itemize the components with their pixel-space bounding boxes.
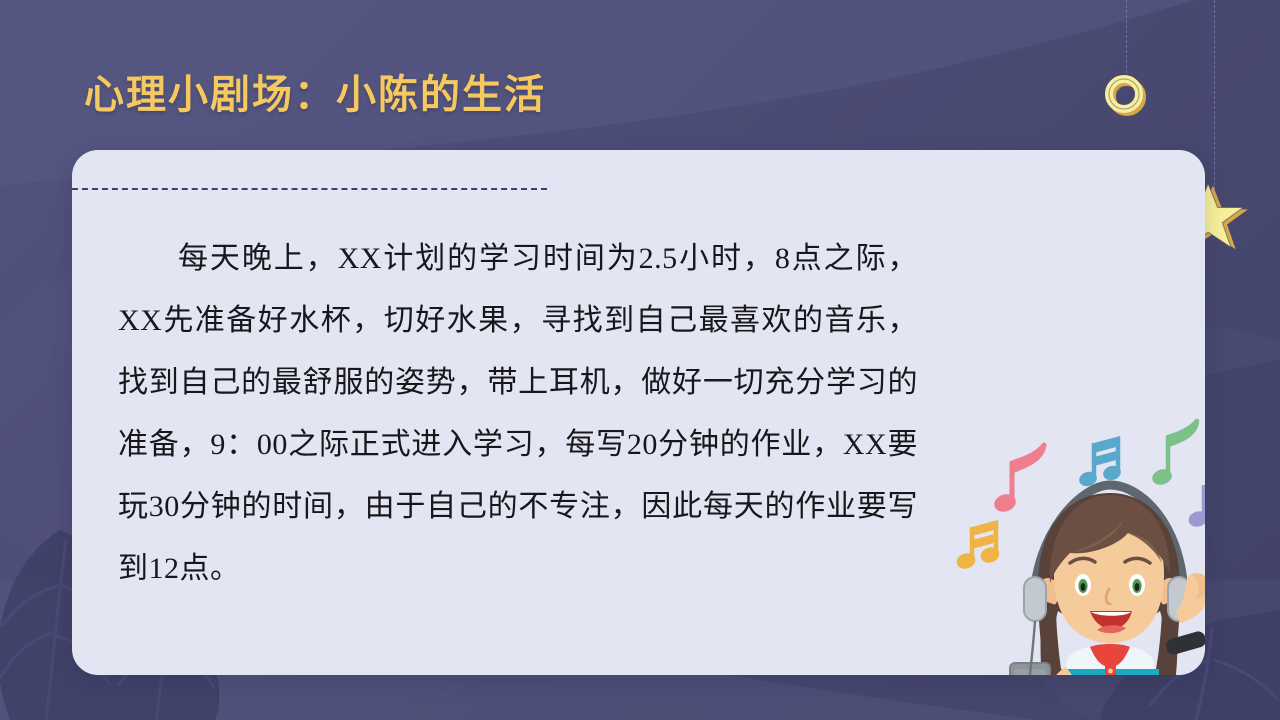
girl-listening-music-illustration (952, 415, 1205, 675)
content-card: 每天晚上，XX计划的学习时间为2.5小时，8点之际，XX先准备好水杯，切好水果，… (72, 150, 1205, 675)
note-blue (1077, 436, 1122, 488)
card-divider-dashed (72, 188, 547, 190)
story-body-text: 每天晚上，XX计划的学习时间为2.5小时，8点之际，XX先准备好水杯，切好水果，… (118, 228, 918, 600)
slide-root: 心理小剧场：小陈的生活 每天晚上，XX计划的学习时间为2.5小时，8点之际，XX… (0, 0, 1280, 720)
shirt-stripes (1058, 669, 1162, 675)
ornament-string-star (1214, 0, 1215, 190)
face (1054, 503, 1164, 643)
hair-bangs (1050, 495, 1170, 583)
mouth (1090, 611, 1132, 633)
collar (1090, 644, 1130, 667)
eyes (1075, 574, 1145, 596)
wristband (1165, 630, 1205, 656)
hair-back (1038, 493, 1180, 675)
headphone-cup-left (1024, 577, 1046, 621)
note-orange (955, 520, 1002, 571)
headphone-band (1034, 485, 1184, 605)
headphone-cord (1028, 621, 1061, 675)
note-pink (992, 445, 1044, 514)
shirt (1060, 645, 1160, 675)
phone (1010, 663, 1050, 675)
headphone-cup-right (1168, 577, 1190, 621)
note-green (1150, 421, 1197, 487)
arm-right (1176, 573, 1205, 623)
arm-left (1042, 667, 1072, 675)
ornament-string-ring (1126, 0, 1127, 78)
page-title: 心理小剧场：小陈的生活 (84, 62, 546, 120)
note-purple (1187, 478, 1205, 529)
